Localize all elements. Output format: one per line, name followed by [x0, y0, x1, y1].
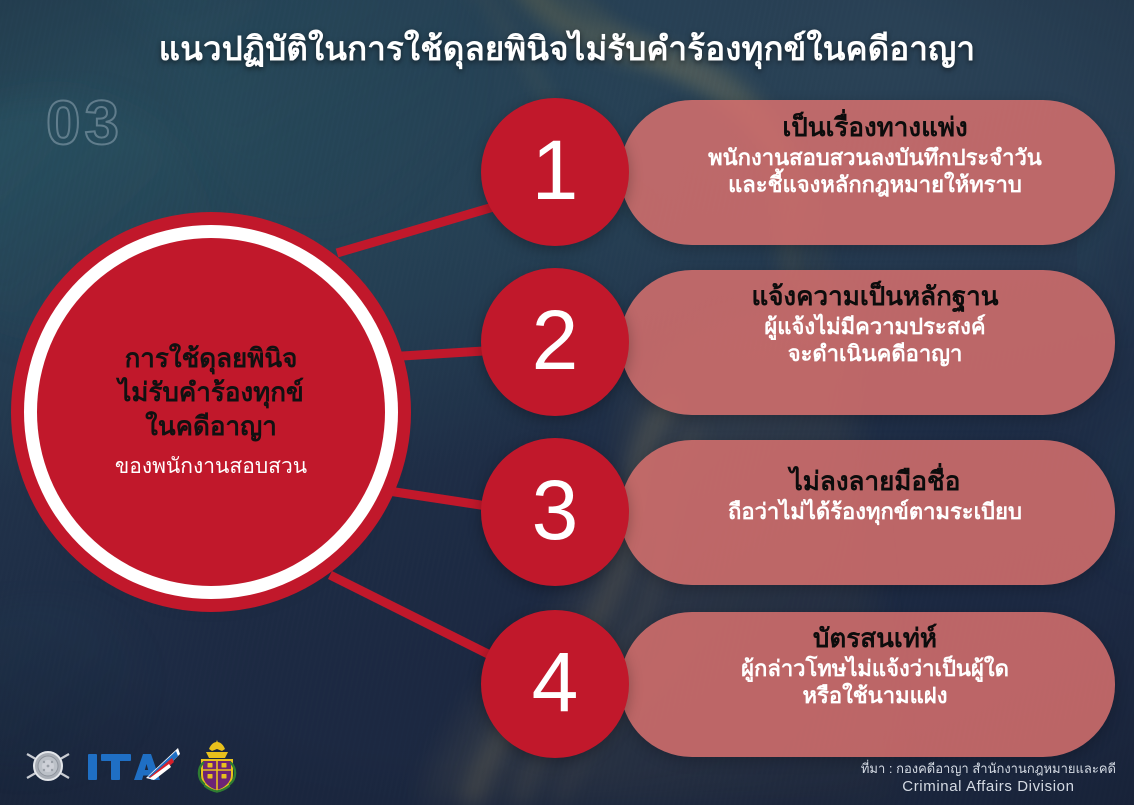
item-4-number-circle: 4	[481, 610, 629, 758]
item-3-body-line-1: ถือว่าไม่ได้ร้องทุกข์ตามระเบียบ	[640, 498, 1110, 526]
footer-credit: ที่มา : กองคดีอาญา สำนักงานกฎหมายและคดี …	[861, 760, 1116, 798]
center-line-1: การใช้ดุลยพินิจ	[125, 341, 298, 375]
center-subtitle: ของพนักงานสอบสวน	[115, 450, 307, 483]
item-4-body-line-1: ผู้กล่าวโทษไม่แจ้งว่าเป็นผู้ใด	[640, 655, 1110, 683]
item-1-number: 1	[532, 128, 579, 212]
source-thai: ที่มา : กองคดีอาญา สำนักงานกฎหมายและคดี	[861, 760, 1116, 777]
item-2-heading: แจ้งความเป็นหลักฐาน	[640, 281, 1110, 313]
item-4-text: บัตรสนเท่ห์ ผู้กล่าวโทษไม่แจ้งว่าเป็นผู้…	[640, 623, 1110, 710]
source-english: Criminal Affairs Division	[861, 777, 1116, 797]
item-3-heading: ไม่ลงลายมือชื่อ	[640, 466, 1110, 498]
item-4-body-line-2: หรือใช้นามแฝง	[640, 682, 1110, 710]
item-1-heading: เป็นเรื่องทางแพ่ง	[640, 112, 1110, 144]
infographic-canvas: แนวปฏิบัติในการใช้ดุลยพินิจไม่รับคำร้องท…	[0, 0, 1134, 805]
item-4-heading: บัตรสนเท่ห์	[640, 623, 1110, 655]
item-2-text: แจ้งความเป็นหลักฐาน ผู้แจ้งไม่มีความประส…	[640, 281, 1110, 368]
item-1-text: เป็นเรื่องทางแพ่ง พนักงานสอบสวนลงบันทึกป…	[640, 112, 1110, 199]
center-line-2: ไม่รับคำร้องทุกข์	[118, 375, 304, 409]
item-3-number-circle: 3	[481, 438, 629, 586]
center-line-3: ในคดีอาญา	[145, 409, 277, 443]
center-circle: การใช้ดุลยพินิจ ไม่รับคำร้องทุกข์ ในคดีอ…	[37, 238, 385, 586]
royal-crest-logo	[194, 739, 240, 793]
item-1-number-circle: 1	[481, 98, 629, 246]
item-3-text: ไม่ลงลายมือชื่อ ถือว่าไม่ได้ร้องทุกข์ตาม…	[640, 466, 1110, 525]
center-circle-content: การใช้ดุลยพินิจ ไม่รับคำร้องทุกข์ ในคดีอ…	[37, 238, 385, 586]
item-2-body-line-1: ผู้แจ้งไม่มีความประสงค์	[640, 313, 1110, 341]
footer-logos	[22, 739, 240, 793]
item-3-number: 3	[532, 468, 579, 552]
item-2-number-circle: 2	[481, 268, 629, 416]
item-1-body-line-1: พนักงานสอบสวนลงบันทึกประจำวัน	[640, 144, 1110, 172]
item-2-number: 2	[532, 298, 579, 382]
connector-line-4	[330, 575, 510, 665]
item-4-number: 4	[532, 640, 579, 724]
item-1-body-line-2: และชี้แจงหลักกฎหมายให้ทราบ	[640, 171, 1110, 199]
ita-logo	[86, 744, 182, 788]
item-2-body-line-2: จะดำเนินคดีอาญา	[640, 340, 1110, 368]
police-badge-logo	[22, 740, 74, 792]
